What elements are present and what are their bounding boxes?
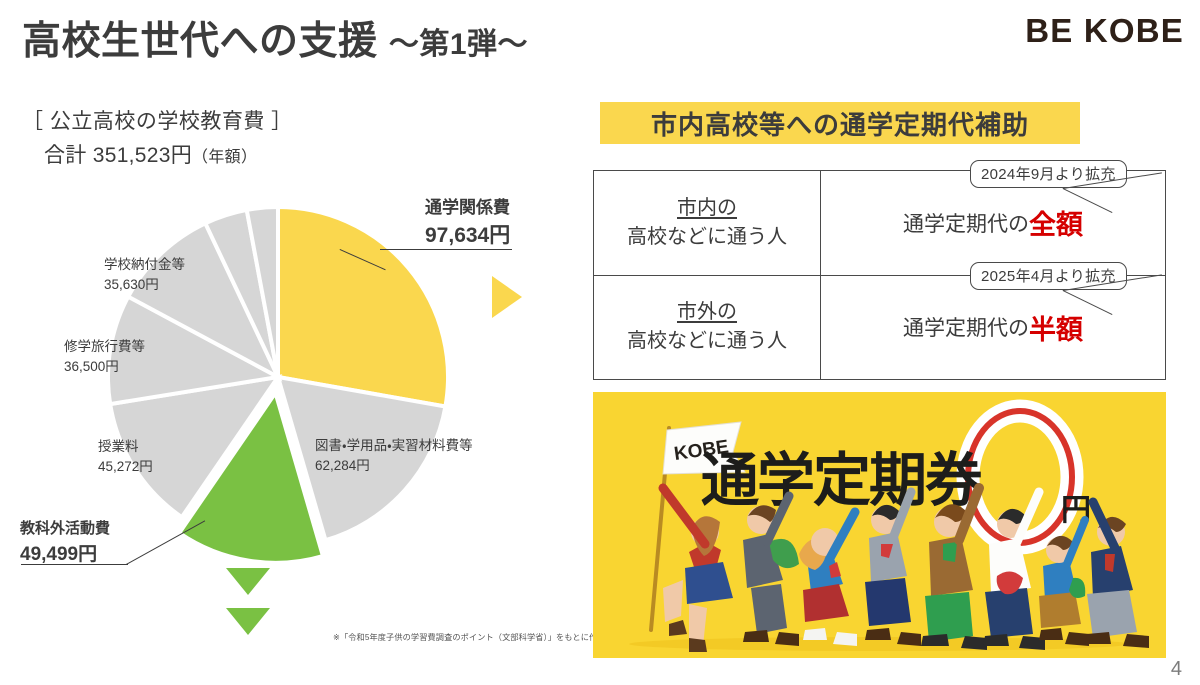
be-kobe-logo: BE KOBE xyxy=(1025,12,1184,50)
illustration-headline: 通学定期券 xyxy=(701,448,983,513)
left-total-amount: 合計 351,523円 xyxy=(44,144,192,167)
table-cell-benefit-2: 通学定期代の半額 xyxy=(821,276,1165,380)
chart-footnote: ※「令和5年度子供の学習費調査のポイント（文部科学省）」をもとに作成 xyxy=(333,631,606,643)
pie-label-tosho-value: 62,284円 xyxy=(315,456,473,476)
table-cell-target-1: 市内の 高校などに通う人 xyxy=(594,171,821,275)
pie-label-shugaku-name: 修学旅行費等 xyxy=(64,337,145,357)
pie-label-tosho: 図書・学用品・実習材料費等 62,284円 xyxy=(315,436,473,475)
table-target-2-line1: 市外の xyxy=(677,301,737,323)
pie-label-shugaku: 修学旅行費等 36,500円 xyxy=(64,337,145,376)
pie-label-tsugaku-name: 通学関係費 xyxy=(425,196,510,221)
subsidy-banner: 市内高校等への通学定期代補助 xyxy=(600,102,1080,144)
page-title-sub: 〜第1弾〜 xyxy=(389,28,528,61)
pie-label-nofu: 学校納付金等 35,630円 xyxy=(104,255,185,294)
pie-label-jugyo: 授業料 45,272円 xyxy=(98,437,153,476)
illustration-svg: KOBE 円 通学定期券 xyxy=(593,392,1166,658)
leader-line-tsugaku xyxy=(380,249,512,250)
subsidy-banner-text: 市内高校等への通学定期代補助 xyxy=(651,105,1029,142)
table-target-1-line2: 高校などに通う人 xyxy=(627,226,787,248)
commuter-pass-illustration: KOBE 円 通学定期券 xyxy=(593,392,1166,658)
pie-label-nofu-name: 学校納付金等 xyxy=(104,255,185,275)
pie-label-jugyo-name: 授業料 xyxy=(98,437,153,457)
left-total-period: （年額） xyxy=(192,149,257,166)
callout-expansion-2024: 2024年9月より拡充 xyxy=(970,160,1127,188)
table-row: 市外の 高校などに通う人 通学定期代の半額 xyxy=(594,275,1165,380)
table-target-1-line1: 市内の xyxy=(677,197,737,219)
pie-label-kyoka-name: 教科外活動費 xyxy=(20,518,110,541)
callout-expansion-2025: 2025年4月より拡充 xyxy=(970,262,1127,290)
green-arrow-down-icon-2 xyxy=(226,608,270,635)
table-benefit-2-emphasis: 半額 xyxy=(1029,308,1083,347)
table-target-2-line2: 高校などに通う人 xyxy=(627,330,787,352)
pie-label-kyoka: 教科外活動費 49,499円 xyxy=(20,518,110,569)
page-title-main: 高校生世代への支援 xyxy=(22,20,378,63)
table-benefit-1-prefix: 通学定期代の xyxy=(903,208,1029,238)
page-number: 4 xyxy=(1171,658,1182,681)
pie-slice-0 xyxy=(278,207,448,406)
table-benefit-2-prefix: 通学定期代の xyxy=(903,312,1029,342)
table-benefit-1-emphasis: 全額 xyxy=(1029,203,1083,242)
page-title: 高校生世代への支援 〜第1弾〜 xyxy=(22,10,528,66)
pie-label-nofu-value: 35,630円 xyxy=(104,275,185,295)
green-arrow-down-icon-1 xyxy=(226,568,270,595)
pie-label-tosho-name: 図書・学用品・実習材料費等 xyxy=(315,436,473,456)
pie-label-tsugaku-value: 97,634円 xyxy=(425,221,510,251)
yellow-arrow-right-icon xyxy=(492,276,522,318)
left-section-label: ［ 公立高校の学校教育費 ］ xyxy=(22,105,293,135)
table-cell-target-2: 市外の 高校などに通う人 xyxy=(594,276,821,380)
leader-line-kyoka xyxy=(21,564,128,565)
slide: 高校生世代への支援 〜第1弾〜 BE KOBE ［ 公立高校の学校教育費 ］ 合… xyxy=(0,0,1200,685)
pie-label-shugaku-value: 36,500円 xyxy=(64,357,145,377)
pie-label-jugyo-value: 45,272円 xyxy=(98,457,153,477)
pie-label-tsugaku: 通学関係費 97,634円 xyxy=(425,196,510,251)
